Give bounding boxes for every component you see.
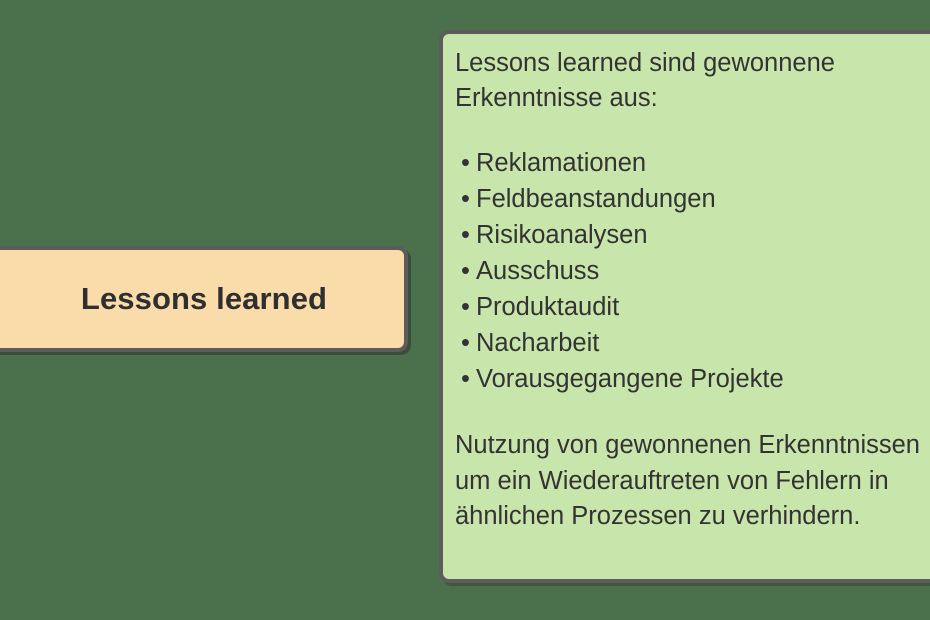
list-item: • Risikoanalysen [455, 217, 925, 253]
list-item-label: Ausschuss [476, 257, 599, 285]
topic-node-lessons-learned[interactable]: Lessons learned [0, 246, 408, 352]
list-item-label: Risikoanalysen [476, 221, 648, 249]
list-item-label: Reklamationen [476, 149, 646, 177]
detail-intro-text: Lessons learned sind gewonnene Erkenntni… [455, 46, 925, 116]
mindmap-canvas: Lessons learned Lessons learned sind gew… [0, 0, 930, 620]
list-item-label: Produktaudit [476, 293, 619, 321]
bullet-icon: • [461, 325, 470, 361]
bullet-icon: • [461, 253, 470, 289]
list-item-label: Feldbeanstandungen [476, 185, 716, 213]
list-item: • Nacharbeit [455, 325, 925, 361]
bullet-icon: • [461, 181, 470, 217]
list-item: • Ausschuss [455, 253, 925, 289]
list-item: • Feldbeanstandungen [455, 181, 925, 217]
list-item-label: Nacharbeit [476, 329, 599, 357]
detail-node-lessons-learned[interactable]: Lessons learned sind gewonnene Erkenntni… [439, 30, 930, 583]
list-item: • Vorausgegangene Projekte [455, 361, 925, 397]
detail-outro-text: Nutzung von gewonnenen Erkenntnissen um … [455, 428, 925, 535]
bullet-icon: • [461, 217, 470, 253]
list-item: • Produktaudit [455, 289, 925, 325]
bullet-icon: • [461, 361, 470, 397]
bullet-icon: • [461, 289, 470, 325]
detail-bullet-list: • Reklamationen • Feldbeanstandungen • R… [455, 145, 925, 397]
list-item: • Reklamationen [455, 145, 925, 181]
topic-node-label: Lessons learned [67, 281, 327, 317]
bullet-icon: • [461, 145, 470, 181]
list-item-label: Vorausgegangene Projekte [476, 365, 784, 393]
